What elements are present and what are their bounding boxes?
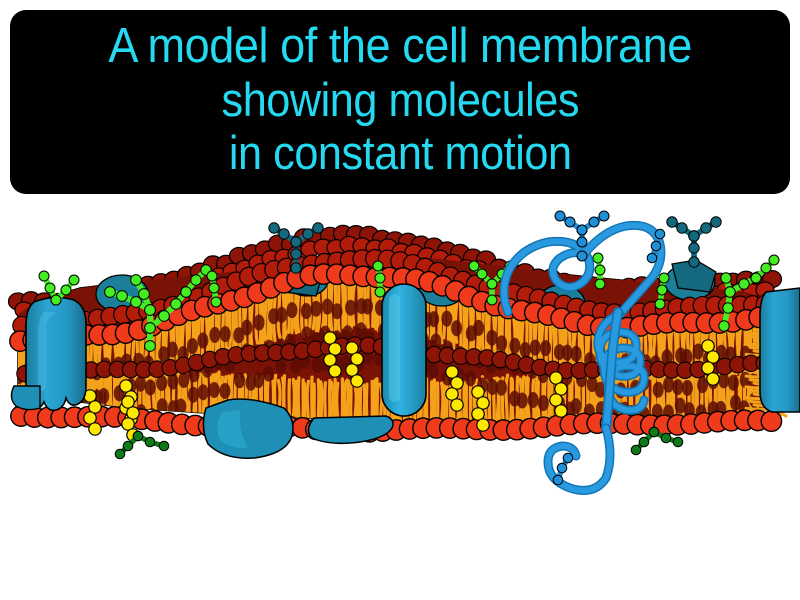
channel-protein-center[interactable] xyxy=(382,284,426,416)
interior-texture xyxy=(145,380,156,396)
carbohydrate-bead[interactable] xyxy=(139,289,150,300)
carbohydrate-bead[interactable] xyxy=(595,279,605,289)
carbohydrate-bead[interactable] xyxy=(655,299,665,309)
interior-texture xyxy=(571,398,582,414)
carbohydrate-bead[interactable] xyxy=(191,275,201,285)
carbohydrate-bead[interactable] xyxy=(469,261,479,271)
interior-texture xyxy=(286,302,297,318)
carbohydrate-bead[interactable] xyxy=(131,297,142,308)
interior-texture xyxy=(234,372,245,388)
title-banner: A model of the cell membrane showing mol… xyxy=(10,10,790,194)
carbohydrate-bead[interactable] xyxy=(761,263,771,273)
carbohydrate-bead[interactable] xyxy=(69,275,79,285)
interior-texture xyxy=(98,388,109,404)
carbohydrate-bead[interactable] xyxy=(39,271,49,281)
helix-carb-bead[interactable] xyxy=(589,217,599,227)
interior-texture xyxy=(276,307,287,323)
interior-texture xyxy=(428,311,439,327)
interior-texture xyxy=(188,387,199,403)
carbohydrate-bead[interactable] xyxy=(657,285,667,295)
glycoprotein-carb-bead[interactable] xyxy=(291,263,301,273)
interior-texture xyxy=(209,327,220,343)
carbohydrate-bead-inner[interactable] xyxy=(631,445,641,455)
interior-texture xyxy=(311,301,322,317)
carbohydrate-bead[interactable] xyxy=(145,305,156,316)
carbohydrate-bead[interactable] xyxy=(51,295,61,305)
interior-texture xyxy=(301,326,312,342)
carbohydrate-bead[interactable] xyxy=(725,287,735,297)
title-line-1: A model of the cell membrane xyxy=(108,20,691,73)
interior-texture xyxy=(473,320,484,336)
interior-texture xyxy=(322,299,333,315)
carbohydrate-bead-inner[interactable] xyxy=(123,441,133,451)
glycoprotein-carb-bead[interactable] xyxy=(303,229,313,239)
carbohydrate-bead-inner[interactable] xyxy=(145,437,155,447)
interior-texture xyxy=(653,382,664,398)
helix-carb-bead[interactable] xyxy=(577,225,587,235)
carbohydrate-bead[interactable] xyxy=(373,261,383,271)
cholesterol-molecule[interactable] xyxy=(707,373,719,385)
peripheral-protein-lower-1[interactable] xyxy=(203,399,293,458)
interior-texture xyxy=(209,382,220,398)
cholesterol-molecule[interactable] xyxy=(329,365,341,377)
interior-texture xyxy=(241,320,252,336)
carbohydrate-bead[interactable] xyxy=(595,265,605,275)
glycoprotein-carb-bead[interactable] xyxy=(701,223,711,233)
interior-texture xyxy=(254,315,265,331)
fatty-acid-tail xyxy=(486,307,487,356)
interior-texture xyxy=(538,395,549,411)
carbohydrate-bead-inner[interactable] xyxy=(673,437,683,447)
interior-texture xyxy=(509,338,520,354)
carbohydrate-bead-inner[interactable] xyxy=(133,431,143,441)
carbohydrate-bead[interactable] xyxy=(159,311,170,322)
interior-texture xyxy=(362,298,373,314)
interior-texture xyxy=(486,330,497,346)
glycoprotein-carb-bead[interactable] xyxy=(269,223,279,233)
cell-membrane-diagram xyxy=(0,196,800,600)
cholesterol-molecule[interactable] xyxy=(555,405,567,417)
interior-texture xyxy=(496,335,507,351)
interior-texture xyxy=(682,380,693,396)
interior-texture xyxy=(663,377,674,393)
interior-texture xyxy=(197,332,208,348)
helix-carb-bead[interactable] xyxy=(577,251,587,261)
interior-texture xyxy=(253,372,264,388)
fatty-acid-tail xyxy=(345,280,346,328)
interior-texture xyxy=(263,366,274,382)
helix-carb-bead[interactable] xyxy=(553,475,563,485)
helix-carb-bead[interactable] xyxy=(647,253,657,263)
interior-texture xyxy=(571,346,582,362)
helix-carb-bead[interactable] xyxy=(555,211,565,221)
carbohydrate-bead-inner[interactable] xyxy=(649,427,659,437)
carbohydrate-bead[interactable] xyxy=(375,273,385,283)
channel-protein-right[interactable] xyxy=(760,288,800,412)
carbohydrate-bead[interactable] xyxy=(477,269,487,279)
interior-texture xyxy=(530,340,541,356)
carbohydrate-bead[interactable] xyxy=(487,295,497,305)
carbohydrate-bead[interactable] xyxy=(209,283,219,293)
carbohydrate-bead[interactable] xyxy=(723,303,733,313)
helix-carb-bead[interactable] xyxy=(599,211,609,221)
carbohydrate-bead-inner[interactable] xyxy=(159,441,169,451)
carbohydrate-bead[interactable] xyxy=(751,273,761,283)
carbohydrate-bead[interactable] xyxy=(45,283,55,293)
fatty-acid-tail xyxy=(265,295,266,341)
helix-carb-bead[interactable] xyxy=(651,241,661,251)
carbohydrate-bead[interactable] xyxy=(769,255,779,265)
carbohydrate-bead[interactable] xyxy=(739,279,749,289)
carbohydrate-bead[interactable] xyxy=(117,291,128,302)
carbohydrate-bead[interactable] xyxy=(487,279,497,289)
fatty-acid-tail xyxy=(466,301,467,353)
carbohydrate-bead[interactable] xyxy=(145,341,156,352)
cholesterol-molecule[interactable] xyxy=(477,419,489,431)
glycoprotein-carb-bead[interactable] xyxy=(689,231,699,241)
carbohydrate-bead[interactable] xyxy=(375,287,385,297)
interior-texture xyxy=(178,372,189,388)
glycoprotein-carb-bead[interactable] xyxy=(279,229,289,239)
glycoprotein-carb-bead[interactable] xyxy=(667,217,677,227)
carbohydrate-bead[interactable] xyxy=(719,321,729,331)
peripheral-protein-lower-3[interactable] xyxy=(11,386,40,410)
glycoprotein-carb-bead[interactable] xyxy=(313,223,323,233)
helix-carb-bead[interactable] xyxy=(557,463,567,473)
helix-carb-bead[interactable] xyxy=(577,237,587,247)
interior-texture xyxy=(672,379,683,395)
interior-texture xyxy=(301,303,312,319)
carbohydrate-bead[interactable] xyxy=(207,271,217,281)
helix-carb-bead[interactable] xyxy=(565,217,575,227)
interior-texture xyxy=(198,384,209,400)
carbohydrate-bead-inner[interactable] xyxy=(661,433,671,443)
phosphate-head xyxy=(761,411,781,431)
carbohydrate-bead[interactable] xyxy=(145,323,156,334)
interior-texture xyxy=(167,342,178,358)
interior-texture xyxy=(441,311,452,327)
carbohydrate-bead[interactable] xyxy=(61,285,71,295)
fatty-acid-tail xyxy=(506,375,508,425)
interior-texture xyxy=(219,383,230,399)
carbohydrate-bead[interactable] xyxy=(131,275,142,286)
carbohydrate-bead-inner[interactable] xyxy=(639,437,649,447)
interior-texture xyxy=(220,326,231,342)
cholesterol-molecule[interactable] xyxy=(451,399,463,411)
title-line-3: in constant motion xyxy=(229,126,572,179)
cholesterol-molecule[interactable] xyxy=(89,423,101,435)
interior-texture xyxy=(428,362,439,378)
glycoprotein-carb-bead[interactable] xyxy=(677,223,687,233)
membrane-illustration xyxy=(0,196,800,600)
carbohydrate-bead[interactable] xyxy=(105,287,116,298)
channel-protein-center-highlight xyxy=(389,294,400,402)
interior-texture xyxy=(332,303,343,319)
interior-texture xyxy=(451,320,462,336)
carbohydrate-bead[interactable] xyxy=(171,299,182,310)
interior-texture xyxy=(540,340,551,356)
glycoprotein-carb-bead[interactable] xyxy=(689,257,699,267)
interior-texture xyxy=(465,370,476,386)
glycoprotein-carb-bead[interactable] xyxy=(291,237,301,247)
carbohydrate-bead[interactable] xyxy=(181,287,191,297)
fatty-acid-tail xyxy=(342,280,343,328)
interior-texture xyxy=(345,300,356,316)
carbohydrate-bead[interactable] xyxy=(659,273,669,283)
interior-texture xyxy=(520,342,531,358)
interior-texture xyxy=(517,392,528,408)
glycoprotein-carb-bead[interactable] xyxy=(689,243,699,253)
cholesterol-molecule[interactable] xyxy=(351,375,363,387)
page-root: A model of the cell membrane showing mol… xyxy=(0,0,800,600)
glycoprotein-carb-bead[interactable] xyxy=(711,217,721,227)
interior-texture xyxy=(528,392,539,408)
interior-texture xyxy=(728,375,739,391)
carbohydrate-bead[interactable] xyxy=(211,297,221,307)
carbohydrate-bead[interactable] xyxy=(593,253,603,263)
carbohydrate-bead-inner[interactable] xyxy=(115,449,125,459)
interior-texture xyxy=(187,338,198,354)
title-line-2: showing molecules xyxy=(221,73,579,126)
carbohydrate-bead[interactable] xyxy=(721,273,731,283)
helix-carb-bead[interactable] xyxy=(563,453,573,463)
helix-carb-bead[interactable] xyxy=(655,229,665,239)
glycoprotein-carb-bead[interactable] xyxy=(291,249,301,259)
interior-texture xyxy=(496,380,507,396)
